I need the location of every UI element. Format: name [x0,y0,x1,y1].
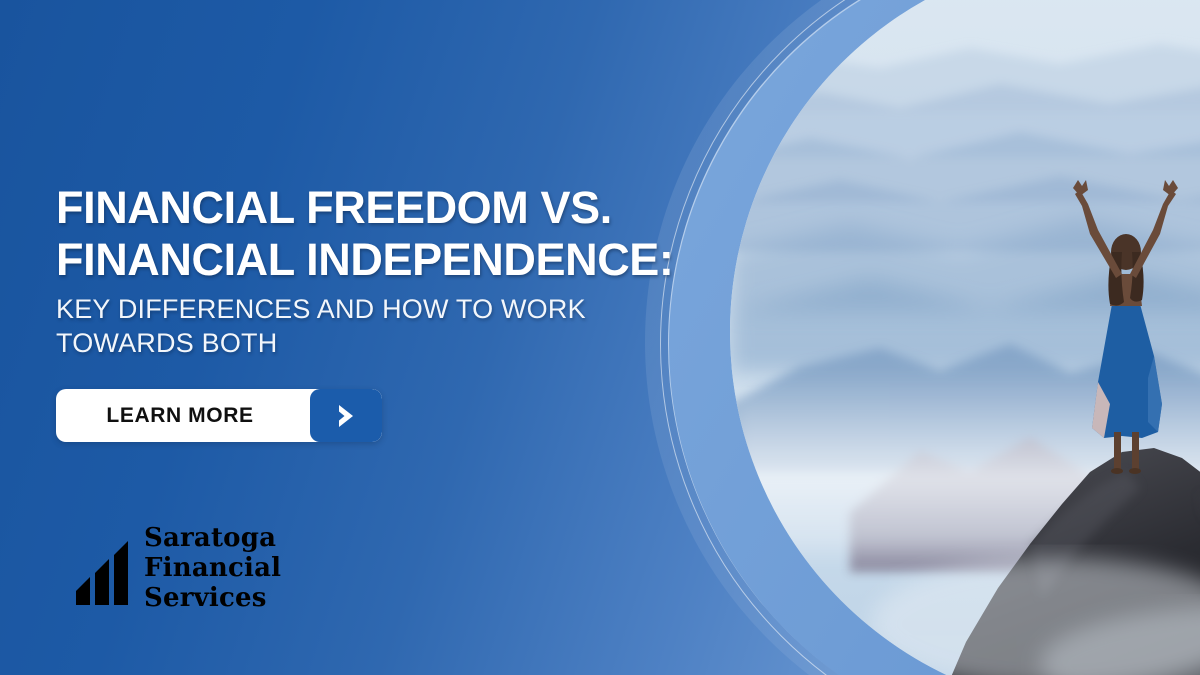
headline-line-2: FINANCIAL INDEPENDENCE: [56,234,696,286]
outer-halo-arc [645,0,1200,675]
headline-line-1: FINANCIAL FREEDOM VS. [56,182,612,233]
learn-more-label: LEARN MORE [56,389,310,442]
promo-banner: FINANCIAL FREEDOM VS. FINANCIAL INDEPEND… [0,0,1200,675]
page-subtitle: KEY DIFFERENCES AND HOW TO WORK TOWARDS … [56,292,666,360]
accent-ring-arc [668,0,1200,675]
brand-line-1: Saratoga [144,524,281,554]
chevron-right-icon[interactable] [310,389,382,442]
brand-name: Saratoga Financial Services [144,524,281,614]
hero-photo-illustration [730,0,1200,675]
learn-more-button[interactable]: LEARN MORE [56,389,382,442]
hero-photo [730,0,1200,675]
content-column: FINANCIAL FREEDOM VS. FINANCIAL INDEPEND… [56,0,696,675]
subheadline-line-2: TOWARDS BOTH [56,326,666,360]
brand-line-3: Services [144,584,281,614]
ring-hairline-stroke [660,0,1200,675]
brand-line-2: Financial [144,554,281,584]
figure-silhouette [1073,180,1178,474]
brand-logo[interactable]: Saratoga Financial Services [76,524,281,614]
page-title: FINANCIAL FREEDOM VS. FINANCIAL INDEPEND… [56,182,696,286]
ascending-bars-icon [76,533,128,605]
subheadline-line-1: KEY DIFFERENCES AND HOW TO WORK [56,294,586,324]
